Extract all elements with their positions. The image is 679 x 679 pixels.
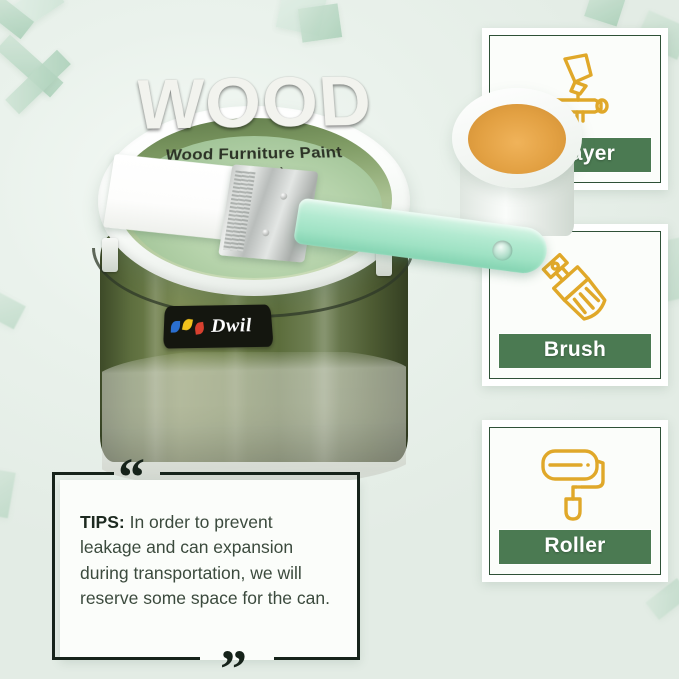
decor-block-mid-top-2 (298, 3, 342, 42)
brush-bristles (103, 154, 240, 240)
application-card-roller-inner: Roller (489, 427, 661, 575)
brush-handle (293, 198, 550, 276)
tips-frame-bottom-right (274, 657, 360, 660)
tips-frame-top-right (160, 472, 360, 475)
decor-block-left-mid (0, 289, 26, 330)
logo-petal-blue-icon (171, 321, 180, 333)
product-label-band-gradient (102, 352, 406, 484)
product-title: WOOD (71, 61, 438, 147)
tips-frame-bottom-left (52, 657, 200, 660)
quote-close-icon: ” (220, 642, 247, 679)
product-image-stage: Dwil WOOD Wood Furniture Paint 1kg (32 o… (0, 0, 679, 679)
application-card-roller-label: Roller (498, 529, 652, 565)
logo-petal-yellow-icon (182, 318, 193, 331)
quote-open-icon: “ (118, 450, 145, 504)
logo-petal-red-icon (194, 322, 205, 335)
paint-can: Dwil WOOD Wood Furniture Paint 1kg (32 o… (76, 52, 432, 472)
brush-rivet-top (280, 193, 288, 201)
paint-roller-icon (498, 438, 652, 529)
tips-frame-top-left (52, 472, 114, 475)
tips-label: TIPS: (80, 512, 125, 532)
application-card-roller[interactable]: Roller (482, 420, 668, 582)
brand-logo-badge: Dwil (163, 304, 274, 348)
tips-callout: “ ” TIPS: In order to prevent leakage an… (52, 472, 360, 660)
brand-name: Dwil (211, 315, 253, 338)
brush-rivet-bottom (262, 229, 270, 237)
decor-block-top-center (584, 0, 626, 27)
tips-frame-right (357, 472, 360, 660)
product-label-band (102, 352, 406, 484)
decor-block-bottom-right (645, 578, 679, 620)
tips-text: TIPS: In order to prevent leakage and ca… (80, 510, 338, 612)
background-can-paint-surface (468, 104, 566, 174)
decor-block-left-low (0, 468, 16, 519)
tips-frame-left (52, 472, 55, 660)
